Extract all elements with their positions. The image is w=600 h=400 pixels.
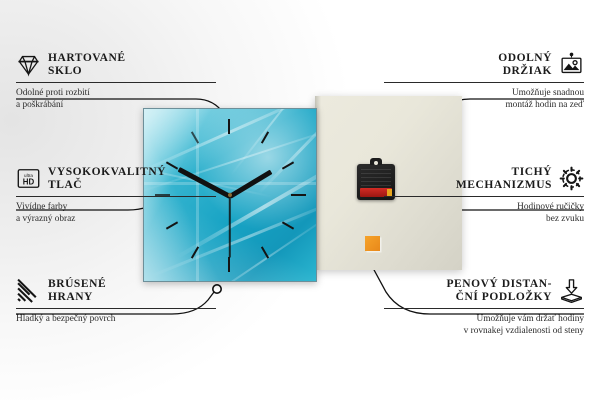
feature-heading: ultra HD VYSOKOKVALITNÝ TLAČ [16,166,216,192]
gear-icon [559,166,584,191]
feature-title-line2: SKLO [48,65,126,78]
feature-description-line1: Odolné proti rozbití [16,87,216,100]
feature-description-line2: a výrazný obraz [16,213,216,226]
feature-title-line2: ČNÍ PODLOŽKY [456,291,552,304]
feature-description: Vivídne farby a výrazný obraz [16,201,216,226]
foam-pad-arrow-icon [559,278,584,303]
feature-title: HARTOVANÉ SKLO [48,52,126,78]
feature-divider [384,196,584,197]
picture-frame-icon [559,52,584,77]
feature-high-quality-print: ultra HD VYSOKOKVALITNÝ TLAČ Vivídne far… [16,166,216,226]
feature-title: PENOVÝ DISTAN- ČNÍ PODLOŽKY [446,278,552,304]
feature-durable-holder: ODOLNÝ DRŽIAK Umožňuje snadnou montáž ho… [384,52,584,112]
feature-description: Odolné proti rozbití a poškrábání [16,87,216,112]
feature-description-line2: a poškrábání [16,99,216,112]
center-pin [228,193,232,197]
tick-mark [291,194,306,196]
feature-description-line1: Umožňuje snadnou [384,87,584,100]
feature-silent-mechanism: TICHÝ MECHANIZMUS Hodinové ručičky bez z… [384,166,584,226]
feature-title-line1: ODOLNÝ [498,52,552,65]
feature-tempered-glass: HARTOVANÉ SKLO Odolné proti rozbití a po… [16,52,216,112]
feature-title: VYSOKOKVALITNÝ TLAČ [48,166,166,192]
svg-text:HD: HD [23,178,35,187]
feature-description-line2: bez zvuku [384,213,584,226]
feature-foam-spacers: PENOVÝ DISTAN- ČNÍ PODLOŽKY Umožňuje vám… [384,278,584,338]
feature-description-line2: montáž hodin na zeď [384,99,584,112]
feature-description-line1: Vivídne farby [16,201,216,214]
feature-divider [16,82,216,83]
feature-heading: TICHÝ MECHANIZMUS [384,166,584,192]
feature-title: BRÚSENÉ HRANY [48,278,106,304]
feature-description-line1: Hladký a bezpečný povrch [16,313,216,326]
feature-divider [16,308,216,309]
tick-mark [282,221,294,229]
brushed-edges-icon [16,278,41,303]
feature-polished-edges: BRÚSENÉ HRANY Hladký a bezpečný povrch [16,278,216,325]
feature-heading: ODOLNÝ DRŽIAK [384,52,584,78]
feature-title-line2: TLAČ [48,179,166,192]
feature-title-line2: HRANY [48,291,106,304]
feature-description-line2: v rovnakej vzdialenosti od steny [384,325,584,338]
feature-description: Hodinové ručičky bez zvuku [384,201,584,226]
feature-title-line2: DRŽIAK [503,65,552,78]
hanger-hole [374,161,378,165]
feature-description-line1: Hodinové ručičky [384,201,584,214]
feature-title-line1: VYSOKOKVALITNÝ [48,166,166,179]
feature-description-line1: Umožňuje vám držať hodiny [384,313,584,326]
infographic-canvas: HARTOVANÉ SKLO Odolné proti rozbití a po… [0,0,600,400]
feature-title-line1: HARTOVANÉ [48,52,126,65]
feature-description: Umožňuje snadnou montáž hodin na zeď [384,87,584,112]
diamond-icon [16,52,41,77]
feature-description: Hladký a bezpečný povrch [16,313,216,326]
tick-mark [228,119,230,134]
feature-title: ODOLNÝ DRŽIAK [498,52,552,78]
feature-title-line2: MECHANIZMUS [456,179,552,192]
feature-title-line1: BRÚSENÉ [48,278,106,291]
feature-heading: HARTOVANÉ SKLO [16,52,216,78]
feature-heading: PENOVÝ DISTAN- ČNÍ PODLOŽKY [384,278,584,304]
feature-description: Umožňuje vám držať hodiny v rovnakej vzd… [384,313,584,338]
feature-divider [16,196,216,197]
feature-title: TICHÝ MECHANIZMUS [456,166,552,192]
feature-title-line1: TICHÝ [512,166,552,179]
feature-divider [384,82,584,83]
second-hand [229,196,231,258]
feature-divider [384,308,584,309]
feature-heading: BRÚSENÉ HRANY [16,278,216,304]
tick-mark [228,257,230,272]
foam-spacer-pad [365,236,380,251]
ultra-hd-icon: ultra HD [16,166,41,191]
feature-title-line1: PENOVÝ DISTAN- [446,278,552,291]
